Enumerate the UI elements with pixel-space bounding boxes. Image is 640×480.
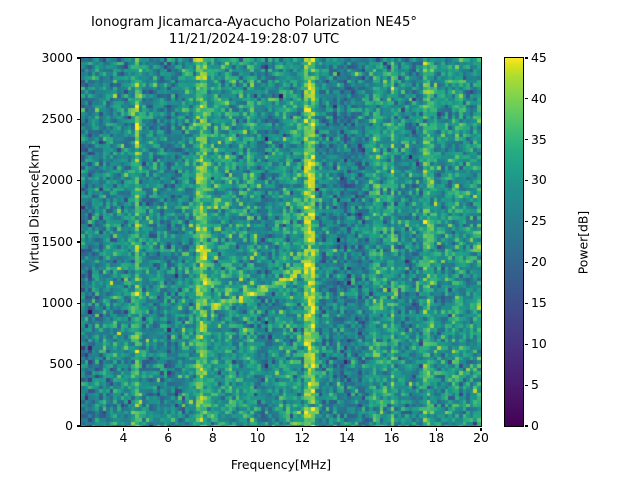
x-tick-mark	[168, 428, 169, 432]
y-tick-mark	[77, 180, 81, 181]
x-tick-label: 20	[461, 432, 501, 444]
y-tick-label: 3000	[31, 52, 73, 64]
y-tick-mark	[77, 425, 81, 426]
y-axis-label: Virtual Distance[km]	[27, 89, 42, 329]
y-tick-label: 500	[31, 358, 73, 370]
colorbar-tick-mark	[525, 98, 529, 99]
colorbar-tick-mark	[525, 344, 529, 345]
colorbar-tick-mark	[525, 425, 529, 426]
colorbar-tick-mark	[525, 180, 529, 181]
colorbar-tick-label: 40	[531, 93, 547, 105]
title-line-1: Ionogram Jicamarca-Ayacucho Polarization…	[91, 15, 417, 30]
x-tick-label: 16	[372, 432, 412, 444]
y-tick-mark	[77, 57, 81, 58]
y-tick-label: 0	[31, 420, 73, 432]
colorbar-tick-label: 0	[531, 420, 539, 432]
colorbar-tick-label: 25	[531, 215, 547, 227]
y-tick-mark	[77, 303, 81, 304]
colorbar	[504, 57, 524, 427]
ionogram-heatmap	[81, 58, 481, 426]
y-tick-mark	[77, 364, 81, 365]
page-title: Ionogram Jicamarca-Ayacucho Polarization…	[0, 14, 508, 48]
x-tick-mark	[302, 428, 303, 432]
y-tick-mark	[77, 241, 81, 242]
x-axis-label: Frequency[MHz]	[80, 457, 482, 472]
x-tick-label: 6	[148, 432, 188, 444]
colorbar-tick-label: 45	[531, 52, 547, 64]
x-tick-label: 4	[103, 432, 143, 444]
x-tick-label: 18	[416, 432, 456, 444]
colorbar-tick-label: 5	[531, 379, 539, 391]
y-tick-mark	[77, 119, 81, 120]
x-tick-mark	[436, 428, 437, 432]
colorbar-tick-mark	[525, 139, 529, 140]
colorbar-tick-mark	[525, 303, 529, 304]
colorbar-tick-label: 30	[531, 174, 547, 186]
colorbar-tick-label: 10	[531, 338, 547, 350]
x-tick-mark	[346, 428, 347, 432]
colorbar-tick-mark	[525, 262, 529, 263]
ionogram-plot-area	[80, 57, 482, 427]
colorbar-tick-mark	[525, 57, 529, 58]
x-tick-mark	[212, 428, 213, 432]
colorbar-label: Power[dB]	[576, 123, 591, 363]
x-tick-mark	[123, 428, 124, 432]
colorbar-tick-label: 35	[531, 134, 547, 146]
x-tick-label: 10	[238, 432, 278, 444]
colorbar-tick-label: 15	[531, 297, 547, 309]
x-tick-label: 12	[282, 432, 322, 444]
x-tick-mark	[391, 428, 392, 432]
x-tick-label: 8	[193, 432, 233, 444]
colorbar-tick-mark	[525, 221, 529, 222]
title-line-2: 11/21/2024-19:28:07 UTC	[169, 32, 339, 47]
x-tick-mark	[480, 428, 481, 432]
colorbar-tick-label: 20	[531, 256, 547, 268]
x-tick-label: 14	[327, 432, 367, 444]
colorbar-tick-mark	[525, 385, 529, 386]
x-tick-mark	[257, 428, 258, 432]
